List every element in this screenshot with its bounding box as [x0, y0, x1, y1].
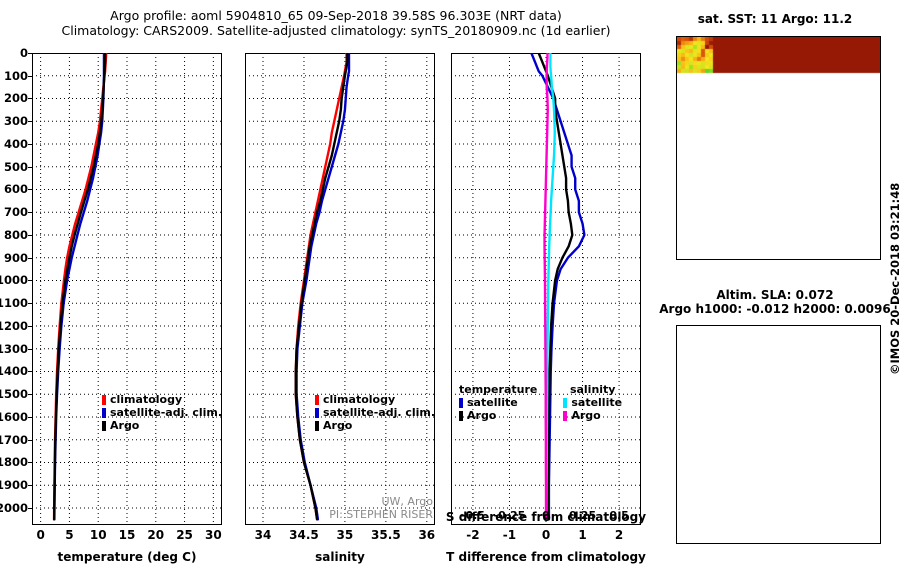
legend-swatch [102, 408, 106, 418]
depth-tick [28, 121, 32, 122]
t-difference-axis-title: T difference from climatology [446, 550, 646, 564]
depth-tick-label: 1600 [0, 410, 28, 424]
depth-tick [28, 394, 32, 395]
title-line-2: Climatology: CARS2009. Satellite-adjuste… [0, 23, 672, 38]
depth-tick-label: 1100 [0, 296, 28, 310]
figure-root: Argo profile: aoml 5904810_65 09-Sep-201… [0, 0, 900, 580]
depth-tick [28, 53, 32, 54]
depth-tick-label: 400 [4, 137, 28, 151]
depth-tick-label: 1900 [0, 478, 28, 492]
depth-tick [28, 280, 32, 281]
depth-tick [28, 189, 32, 190]
panel-map-sst [676, 36, 881, 260]
difference-plot-canvas [451, 53, 641, 525]
depth-tick [28, 371, 32, 372]
depth-tick [28, 98, 32, 99]
depth-tick [28, 326, 32, 327]
panel-temperature: 0100200300400500600700800900100011001200… [32, 53, 222, 525]
legend-header: temperature [459, 383, 537, 396]
t-difference-tick-label: -1 [503, 528, 516, 542]
depth-tick [28, 462, 32, 463]
depth-tick-label: 1500 [0, 387, 28, 401]
legend-label: satellite-adj. clim. [110, 406, 222, 419]
legend-swatch [459, 411, 463, 421]
sst-float-marker [677, 37, 881, 260]
depth-tick-label: 1400 [0, 364, 28, 378]
depth-tick-label: 2000 [0, 501, 28, 515]
legend-columns: temperaturesatelliteArgosalinitysatellit… [459, 383, 622, 422]
legend-swatch [315, 408, 319, 418]
title-line-1: Argo profile: aoml 5904810_65 09-Sep-201… [0, 8, 672, 23]
sla-float-marker [677, 326, 881, 544]
depth-tick-label: 600 [4, 182, 28, 196]
legend-header: salinity [563, 383, 622, 396]
annotation-line-1: UW, Argo [285, 495, 433, 508]
t-difference-tick-label: 0 [542, 528, 550, 542]
temperature-tick-label: 20 [147, 528, 164, 542]
legend-item: satellite [563, 396, 622, 409]
depth-tick-label: 1200 [0, 319, 28, 333]
t-difference-tick-label: 2 [615, 528, 623, 542]
t-difference-tick-label: -2 [466, 528, 479, 542]
legend-label: satellite [571, 396, 622, 409]
salinity-tick-label: 35.5 [371, 528, 401, 542]
panel-map-sla [676, 325, 881, 544]
sla-title-line-1: Altim. SLA: 0.072 [655, 288, 895, 302]
temperature-tick-label: 25 [176, 528, 193, 542]
sst-map-title: sat. SST: 11 Argo: 11.2 [660, 12, 890, 26]
depth-tick [28, 76, 32, 77]
sla-map-frame [676, 325, 881, 544]
legend-swatch [315, 421, 319, 431]
salinity-tick-label: 34 [255, 528, 272, 542]
depth-tick-label: 100 [4, 69, 28, 83]
depth-tick [28, 440, 32, 441]
legend-label: satellite [467, 396, 518, 409]
depth-tick-label: 800 [4, 228, 28, 242]
temperature-tick-label: 5 [65, 528, 73, 542]
depth-tick [28, 417, 32, 418]
legend-swatch [102, 421, 106, 431]
temperature-legend: climatologysatellite-adj. clim.Argo [102, 393, 222, 432]
depth-tick-label: 300 [4, 114, 28, 128]
sla-map-title: Altim. SLA: 0.072 Argo h1000: -0.012 h20… [655, 288, 895, 316]
depth-tick-label: 0 [20, 46, 28, 60]
legend-label: Argo [323, 419, 352, 432]
legend-item: satellite [459, 396, 537, 409]
depth-tick [28, 144, 32, 145]
depth-tick [28, 508, 32, 509]
salinity-axis-title: salinity [315, 550, 365, 564]
salinity-tick-label: 35 [337, 528, 354, 542]
depth-tick [28, 235, 32, 236]
legend-label: climatology [110, 393, 182, 406]
legend-item: Argo [102, 419, 222, 432]
temperature-axis-title: temperature (deg C) [58, 550, 197, 564]
legend-item: climatology [315, 393, 435, 406]
legend-item: satellite-adj. clim. [315, 406, 435, 419]
legend-swatch [102, 395, 106, 405]
legend-item: Argo [315, 419, 435, 432]
temperature-tick-label: 10 [90, 528, 107, 542]
legend-label: climatology [323, 393, 395, 406]
t-difference-tick-label: 1 [578, 528, 586, 542]
difference-legend: temperaturesatelliteArgosalinitysatellit… [459, 383, 622, 422]
depth-tick-label: 500 [4, 160, 28, 174]
temperature-tick-label: 15 [119, 528, 136, 542]
sst-map-frame [676, 36, 881, 260]
s-difference-axis-title: S difference from climatology [446, 510, 646, 524]
depth-tick [28, 485, 32, 486]
depth-tick [28, 212, 32, 213]
depth-tick-label: 1700 [0, 433, 28, 447]
panel-salinity: 3434.53535.536 salinity climatologysatel… [245, 53, 435, 525]
legend-label: Argo [110, 419, 139, 432]
annotation-line-2: PI: STEPHEN RISER [285, 508, 433, 521]
depth-tick-label: 1300 [0, 342, 28, 356]
depth-tick-label: 1000 [0, 273, 28, 287]
depth-tick [28, 167, 32, 168]
page-title: Argo profile: aoml 5904810_65 09-Sep-201… [0, 8, 672, 38]
depth-tick-label: 200 [4, 91, 28, 105]
legend-item: satellite-adj. clim. [102, 406, 222, 419]
panel-difference: -2-1012 -0.5-0.2500.250.5 T difference f… [451, 53, 641, 525]
data-source-annotation: UW, Argo PI: STEPHEN RISER [285, 495, 433, 521]
depth-tick [28, 303, 32, 304]
legend-item: Argo [459, 409, 537, 422]
legend-swatch [563, 411, 567, 421]
depth-tick [28, 349, 32, 350]
legend-column: temperaturesatelliteArgo [459, 383, 537, 422]
depth-tick-label: 1800 [0, 455, 28, 469]
legend-label: Argo [467, 409, 496, 422]
temperature-tick-label: 0 [36, 528, 44, 542]
legend-label: Argo [571, 409, 600, 422]
temperature-tick-label: 30 [205, 528, 222, 542]
depth-tick-label: 900 [4, 251, 28, 265]
copyright-label: ©IMOS 20-Dec-2018 03:21:48 [888, 183, 900, 375]
salinity-plot-canvas [245, 53, 435, 525]
salinity-tick-label: 34.5 [289, 528, 319, 542]
depth-tick-label: 700 [4, 205, 28, 219]
salinity-tick-label: 36 [418, 528, 435, 542]
legend-swatch [315, 395, 319, 405]
legend-item: climatology [102, 393, 222, 406]
salinity-legend: climatologysatellite-adj. clim.Argo [315, 393, 435, 432]
legend-item: Argo [563, 409, 622, 422]
depth-tick [28, 258, 32, 259]
legend-swatch [459, 398, 463, 408]
temperature-plot-canvas [32, 53, 222, 525]
sla-title-line-2: Argo h1000: -0.012 h2000: 0.0096 [655, 302, 895, 316]
legend-label: satellite-adj. clim. [323, 406, 435, 419]
legend-swatch [563, 398, 567, 408]
legend-column: salinitysatelliteArgo [563, 383, 622, 422]
